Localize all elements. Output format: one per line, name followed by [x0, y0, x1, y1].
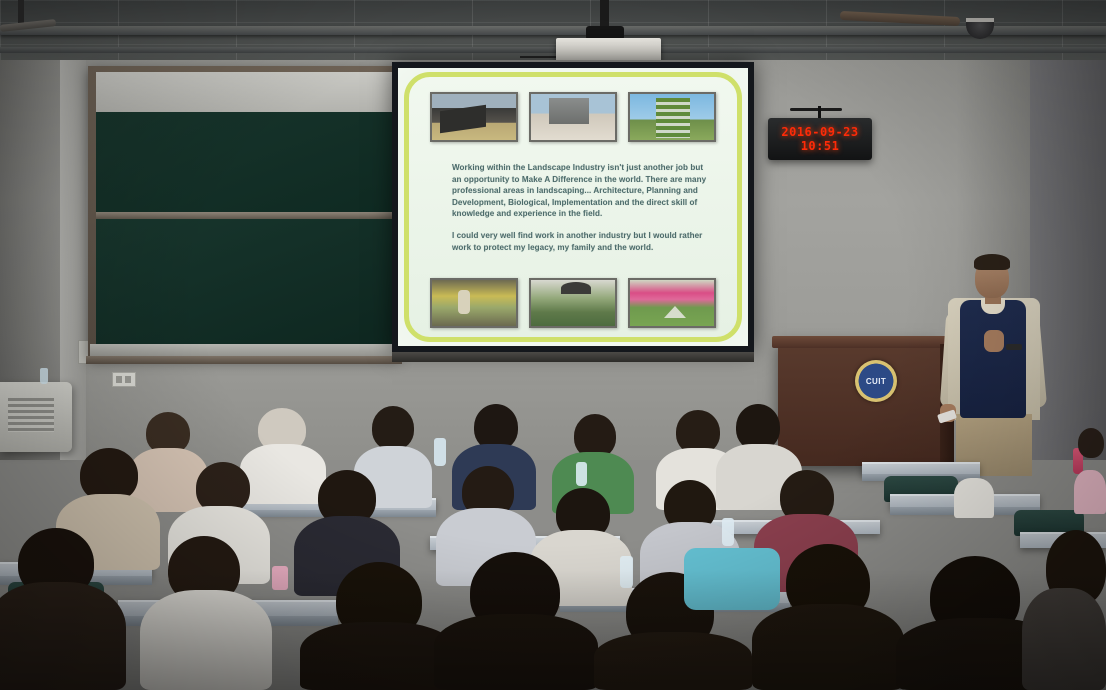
landscaping-worker-photo: [430, 278, 518, 328]
presentation-slide: Working within the Landscape Industry is…: [398, 68, 748, 346]
green-vertical-building-photo: [628, 92, 716, 142]
slide-photo-row-top: [430, 92, 716, 142]
student-shoulder-front-3: [300, 622, 456, 690]
student-shoulder-front-4: [434, 614, 598, 690]
slide-paragraph-2: I could very well find work in another i…: [452, 230, 710, 253]
ceiling-rail: [0, 26, 1106, 35]
student-shoulder-right-white: [954, 478, 994, 518]
blackboard-panel-lower: [96, 219, 392, 344]
building-entrance-photo: [529, 92, 617, 142]
student-shoulder-front-5: [594, 632, 752, 690]
student-shoulder-front-8: [1022, 588, 1106, 690]
slide-content: Working within the Landscape Industry is…: [410, 78, 736, 336]
podium-top-surface: [772, 336, 947, 348]
water-bottle-desk-4: [620, 556, 633, 588]
water-bottle-desk-2: [576, 462, 587, 486]
pink-pouch-desk: [272, 566, 288, 590]
student-shoulder-white-shirt: [240, 444, 326, 504]
slide-body-text: Working within the Landscape Industry is…: [452, 162, 710, 263]
cuit-emblem-label: CUIT: [866, 377, 886, 386]
clock-time: 10:51: [801, 139, 840, 153]
clock-date: 2016-09-23: [781, 125, 858, 139]
blackboard-panel-upper: [96, 112, 392, 212]
led-clock-display: 2016-09-23 10:51: [768, 118, 872, 160]
student-head-back-2: [372, 406, 414, 450]
blackboard-chalk-rail: [96, 212, 392, 219]
clock-antenna: [790, 108, 842, 111]
speaker-wristwatch: [1006, 344, 1022, 350]
garden-pavilion-photo: [529, 278, 617, 328]
slide-photo-row-bottom: [430, 278, 716, 328]
student-shoulder-front-2: [140, 590, 272, 690]
speaker-right-hand: [984, 330, 1004, 352]
student-head-right-back: [1078, 428, 1104, 458]
lectern-podium: [778, 338, 940, 466]
air-conditioner-vent: [8, 398, 54, 432]
screen-bottom-bar: [392, 352, 754, 362]
water-bottle-desk-3: [722, 518, 734, 546]
water-bottle-on-ac: [40, 368, 48, 384]
student-shoulder-front-6: [752, 604, 904, 690]
construction-site-photo: [430, 92, 518, 142]
blackboard-top-panel: [96, 72, 392, 112]
slide-paragraph-1: Working within the Landscape Industry is…: [452, 162, 710, 220]
flower-bed-sprinkler-photo: [628, 278, 716, 328]
lecture-hall-scene: Working within the Landscape Industry is…: [0, 0, 1106, 690]
wall-power-socket: [112, 372, 136, 387]
speaker-vest: [960, 300, 1026, 418]
blackboard-ledge: [86, 356, 402, 364]
student-shoulder-right-pink: [1074, 470, 1106, 514]
cuit-emblem-icon: CUIT: [855, 360, 897, 402]
teal-bag-on-desk: [684, 548, 780, 610]
student-shoulder-front-1: [0, 582, 126, 690]
speaker-hair: [974, 254, 1010, 270]
water-bottle-desk-1: [434, 438, 446, 466]
